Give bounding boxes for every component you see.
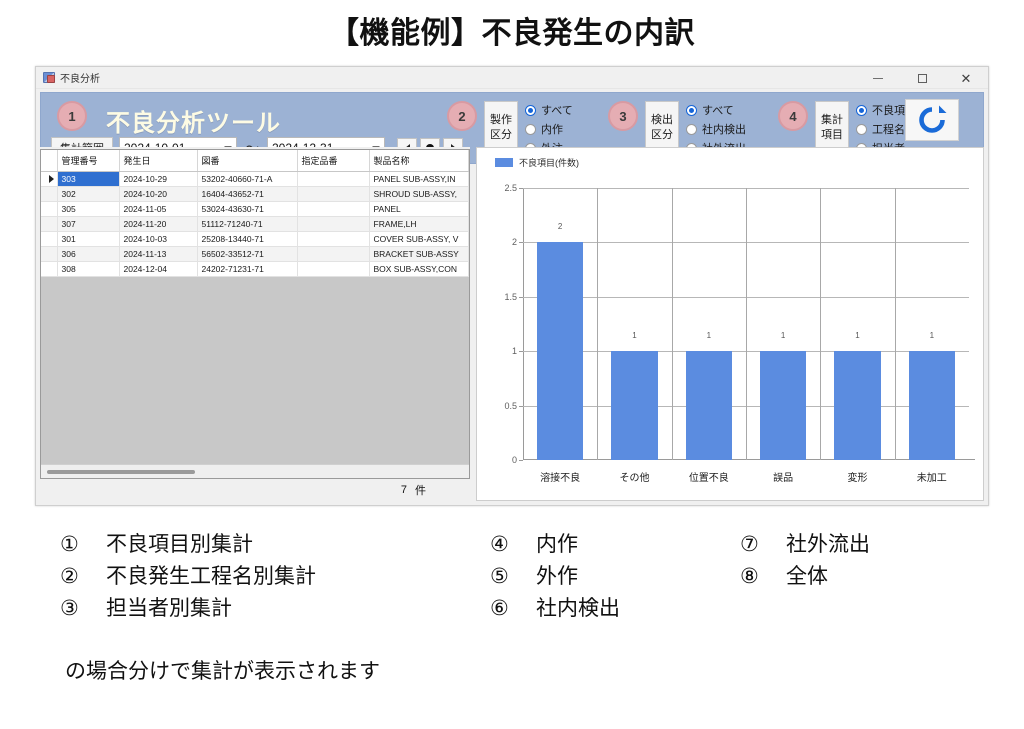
y-tick-label: 0.5 [504, 401, 517, 411]
cell-id[interactable]: 306 [57, 247, 119, 262]
cell-date[interactable]: 2024-11-20 [119, 217, 197, 232]
data-grid-table: 管理番号 発生日 図番 指定品番 製品名称 303 2024- [41, 150, 469, 277]
row-marker [41, 172, 57, 187]
cell-date[interactable]: 2024-12-04 [119, 262, 197, 277]
cell-date[interactable]: 2024-11-13 [119, 247, 197, 262]
row-marker [41, 247, 57, 262]
column-header-name[interactable]: 製品名称 [369, 150, 469, 172]
radio-label: すべて [702, 102, 734, 118]
cell-id[interactable]: 308 [57, 262, 119, 277]
column-header-date[interactable]: 発生日 [119, 150, 197, 172]
table-body: 303 2024-10-29 53202-40660-71-A PANEL SU… [41, 172, 469, 277]
chart-bars: 2 1 1 1 [523, 188, 969, 460]
grid-horizontal-scrollbar[interactable] [41, 464, 469, 478]
list-item-number: ④ [490, 532, 536, 557]
bar-cell[interactable]: 2 [523, 188, 597, 460]
bar-cell[interactable]: 1 [820, 188, 894, 460]
radio-dot [525, 124, 536, 135]
radio-dot [856, 105, 867, 116]
cell-name[interactable]: COVER SUB-ASSY, V [369, 232, 469, 247]
column-header-drawing[interactable]: 図番 [197, 150, 297, 172]
list-item: ⑤ 外作 [490, 560, 740, 590]
cell-id[interactable]: 302 [57, 187, 119, 202]
cell-drawing[interactable]: 25208-13440-71 [197, 232, 297, 247]
legend-row: ③ 担当者別集計 ⑥ 社内検出 [60, 592, 990, 622]
row-marker-header [41, 150, 57, 172]
badge-1: 1 [57, 101, 87, 131]
defect-bar-chart: 不良項目(件数) 2.5 [476, 147, 984, 501]
list-item-number: ② [60, 564, 106, 589]
cell-drawing[interactable]: 16404-43652-71 [197, 187, 297, 202]
radio-label: 内作 [541, 121, 563, 137]
table-row[interactable]: 303 2024-10-29 53202-40660-71-A PANEL SU… [41, 172, 469, 187]
grid-status-bar: 7 件 [40, 479, 470, 501]
row-marker [41, 202, 57, 217]
list-item-number: ⑥ [490, 596, 536, 621]
radio-production-all[interactable]: すべて [525, 102, 573, 118]
bar-value-label: 1 [930, 331, 934, 340]
list-item: ⑧ 全体 [740, 560, 990, 590]
row-marker [41, 187, 57, 202]
refresh-icon [916, 104, 948, 136]
x-tick-label: 変形 [820, 469, 894, 484]
radio-dot [856, 124, 867, 135]
bar-value-label: 1 [632, 331, 636, 340]
list-item-number: ① [60, 532, 106, 557]
cell-part[interactable] [297, 187, 369, 202]
app-window: 不良分析 ✕ 1 不良分析ツール 集計範囲 2024-10-01 ～ [35, 66, 989, 506]
list-item-number: ⑦ [740, 532, 786, 557]
chart-legend: 不良項目(件数) [495, 156, 579, 169]
bar-value-label: 2 [558, 222, 562, 231]
list-item-number: ③ [60, 596, 106, 621]
cell-name[interactable]: BOX SUB-ASSY,CON [369, 262, 469, 277]
cell-date[interactable]: 2024-11-05 [119, 202, 197, 217]
bar[interactable] [834, 351, 880, 460]
slide-root: 【機能例】不良発生の内訳 不良分析 ✕ 1 不良分析ツール 集計範囲 2024-… [0, 0, 1024, 729]
chart-plot-area: 2.5 2 1.5 1 0.5 0 2 [523, 188, 969, 460]
page-title: 【機能例】不良発生の内訳 [0, 8, 1024, 52]
legend-list: ① 不良項目別集計 ④ 内作 ⑦ 社外流出 ② 不良発生工程名別集計 ⑤ 外作 [60, 528, 990, 624]
legend-label: 不良項目(件数) [519, 156, 579, 169]
cell-id[interactable]: 305 [57, 202, 119, 217]
y-tick-label: 2 [512, 237, 517, 247]
list-item: ④ 内作 [490, 528, 740, 558]
cell-part[interactable] [297, 202, 369, 217]
bar-cell[interactable]: 1 [895, 188, 969, 460]
x-tick-label: その他 [597, 469, 671, 484]
table-row[interactable]: 301 2024-10-03 25208-13440-71 COVER SUB-… [41, 232, 469, 247]
cell-part[interactable] [297, 247, 369, 262]
cell-part[interactable] [297, 232, 369, 247]
list-item-number: ⑤ [490, 564, 536, 589]
bar[interactable] [686, 351, 732, 460]
list-item-label: 不良項目別集計 [106, 528, 253, 558]
window-controls: ✕ [856, 67, 988, 89]
column-header-part[interactable]: 指定品番 [297, 150, 369, 172]
cell-drawing[interactable]: 53024-43630-71 [197, 202, 297, 217]
bar[interactable] [909, 351, 955, 460]
app-icon [43, 72, 55, 83]
radio-dot [686, 124, 697, 135]
cell-drawing[interactable]: 24202-71231-71 [197, 262, 297, 277]
bar-value-label: 1 [707, 331, 711, 340]
cell-date[interactable]: 2024-10-20 [119, 187, 197, 202]
cell-name[interactable]: PANEL [369, 202, 469, 217]
row-marker [41, 232, 57, 247]
current-row-icon [49, 175, 54, 183]
radio-label: すべて [541, 102, 573, 118]
radio-label: 社内検出 [702, 121, 746, 137]
bar-cell[interactable]: 1 [672, 188, 746, 460]
data-grid-panel: 管理番号 発生日 図番 指定品番 製品名称 303 2024- [40, 147, 470, 501]
cell-date[interactable]: 2024-10-03 [119, 232, 197, 247]
bar-cell[interactable]: 1 [746, 188, 820, 460]
detection-type-label-line1: 検出 [651, 113, 673, 128]
bar-value-label: 1 [781, 331, 785, 340]
app-heading: 不良分析ツール [106, 103, 281, 138]
legend-row: ① 不良項目別集計 ④ 内作 ⑦ 社外流出 [60, 528, 990, 558]
x-tick-label: 誤品 [746, 469, 820, 484]
y-tick-label: 2.5 [504, 183, 517, 193]
record-count: 7 [401, 484, 407, 496]
badge-2: 2 [447, 101, 477, 131]
detection-type-label-line2: 区分 [651, 128, 673, 143]
window-titlebar: 不良分析 ✕ [36, 67, 988, 89]
cell-name[interactable]: BRACKET SUB-ASSY [369, 247, 469, 262]
list-item: ③ 担当者別集計 [60, 592, 490, 622]
aggregation-item-label-line1: 集計 [821, 113, 843, 128]
minimize-icon[interactable] [856, 67, 900, 89]
list-item-label: 全体 [786, 560, 828, 590]
radio-detection-internal[interactable]: 社内検出 [686, 121, 746, 137]
cell-drawing[interactable]: 51112-71240-71 [197, 217, 297, 232]
bar-value-label: 1 [855, 331, 859, 340]
list-item: ⑦ 社外流出 [740, 528, 990, 558]
badge-4: 4 [778, 101, 808, 131]
cell-name[interactable]: SHROUD SUB-ASSY, [369, 187, 469, 202]
list-item-label: 担当者別集計 [106, 592, 232, 622]
row-marker [41, 262, 57, 277]
list-item: ① 不良項目別集計 [60, 528, 490, 558]
list-item-number: ⑧ [740, 564, 786, 589]
radio-production-inhouse[interactable]: 内作 [525, 121, 573, 137]
list-item-label: 不良発生工程名別集計 [106, 560, 316, 590]
aggregation-item-label-line2: 項目 [821, 128, 843, 143]
grid-empty-area [41, 277, 469, 464]
data-grid[interactable]: 管理番号 発生日 図番 指定品番 製品名称 303 2024- [40, 149, 470, 479]
y-tick-label: 1 [512, 346, 517, 356]
cell-name[interactable]: PANEL SUB-ASSY,IN [369, 172, 469, 187]
cell-part[interactable] [297, 172, 369, 187]
legend-row: ② 不良発生工程名別集計 ⑤ 外作 ⑧ 全体 [60, 560, 990, 590]
table-row[interactable]: 306 2024-11-13 56502-33512-71 BRACKET SU… [41, 247, 469, 262]
list-item-label: 社外流出 [786, 528, 870, 558]
radio-dot [525, 105, 536, 116]
refresh-button[interactable] [905, 99, 959, 141]
bar[interactable] [611, 351, 657, 460]
y-tick-label: 0 [512, 455, 517, 465]
record-count-unit: 件 [415, 482, 426, 498]
list-item-label: 外作 [536, 560, 578, 590]
cell-id[interactable]: 307 [57, 217, 119, 232]
bar[interactable] [537, 242, 583, 460]
maximize-icon[interactable] [900, 67, 944, 89]
cell-id[interactable]: 303 [57, 172, 119, 187]
chart-x-labels: 溶接不良 その他 位置不良 誤品 変形 未加工 [523, 469, 969, 484]
work-area: 管理番号 発生日 図番 指定品番 製品名称 303 2024- [40, 147, 984, 501]
badge-3: 3 [608, 101, 638, 131]
y-tick-label: 1.5 [504, 292, 517, 302]
cell-id[interactable]: 301 [57, 232, 119, 247]
table-row[interactable]: 308 2024-12-04 24202-71231-71 BOX SUB-AS… [41, 262, 469, 277]
table-header-row: 管理番号 発生日 図番 指定品番 製品名称 [41, 150, 469, 172]
x-tick-label: 位置不良 [672, 469, 746, 484]
list-item-label: 社内検出 [536, 592, 620, 622]
scrollbar-thumb[interactable] [47, 470, 195, 474]
slide-caption: の場合分けで集計が表示されます [65, 655, 380, 685]
table-row[interactable]: 302 2024-10-20 16404-43652-71 SHROUD SUB… [41, 187, 469, 202]
radio-detection-all[interactable]: すべて [686, 102, 746, 118]
cell-part[interactable] [297, 262, 369, 277]
production-type-label-line2: 区分 [490, 128, 512, 143]
cell-part[interactable] [297, 217, 369, 232]
x-tick-label: 未加工 [895, 469, 969, 484]
legend-swatch [495, 158, 513, 167]
close-icon[interactable]: ✕ [944, 67, 988, 89]
cell-drawing[interactable]: 56502-33512-71 [197, 247, 297, 262]
radio-dot [686, 105, 697, 116]
cell-date[interactable]: 2024-10-29 [119, 172, 197, 187]
table-row[interactable]: 305 2024-11-05 53024-43630-71 PANEL [41, 202, 469, 217]
row-marker [41, 217, 57, 232]
bar[interactable] [760, 351, 806, 460]
list-item: ⑥ 社内検出 [490, 592, 740, 622]
window-title: 不良分析 [60, 70, 100, 85]
column-header-id[interactable]: 管理番号 [57, 150, 119, 172]
cell-drawing[interactable]: 53202-40660-71-A [197, 172, 297, 187]
list-item-label: 内作 [536, 528, 578, 558]
production-type-label-line1: 製作 [490, 113, 512, 128]
list-item: ② 不良発生工程名別集計 [60, 560, 490, 590]
cell-name[interactable]: FRAME,LH [369, 217, 469, 232]
table-row[interactable]: 307 2024-11-20 51112-71240-71 FRAME,LH [41, 217, 469, 232]
x-tick-label: 溶接不良 [523, 469, 597, 484]
bar-cell[interactable]: 1 [597, 188, 671, 460]
